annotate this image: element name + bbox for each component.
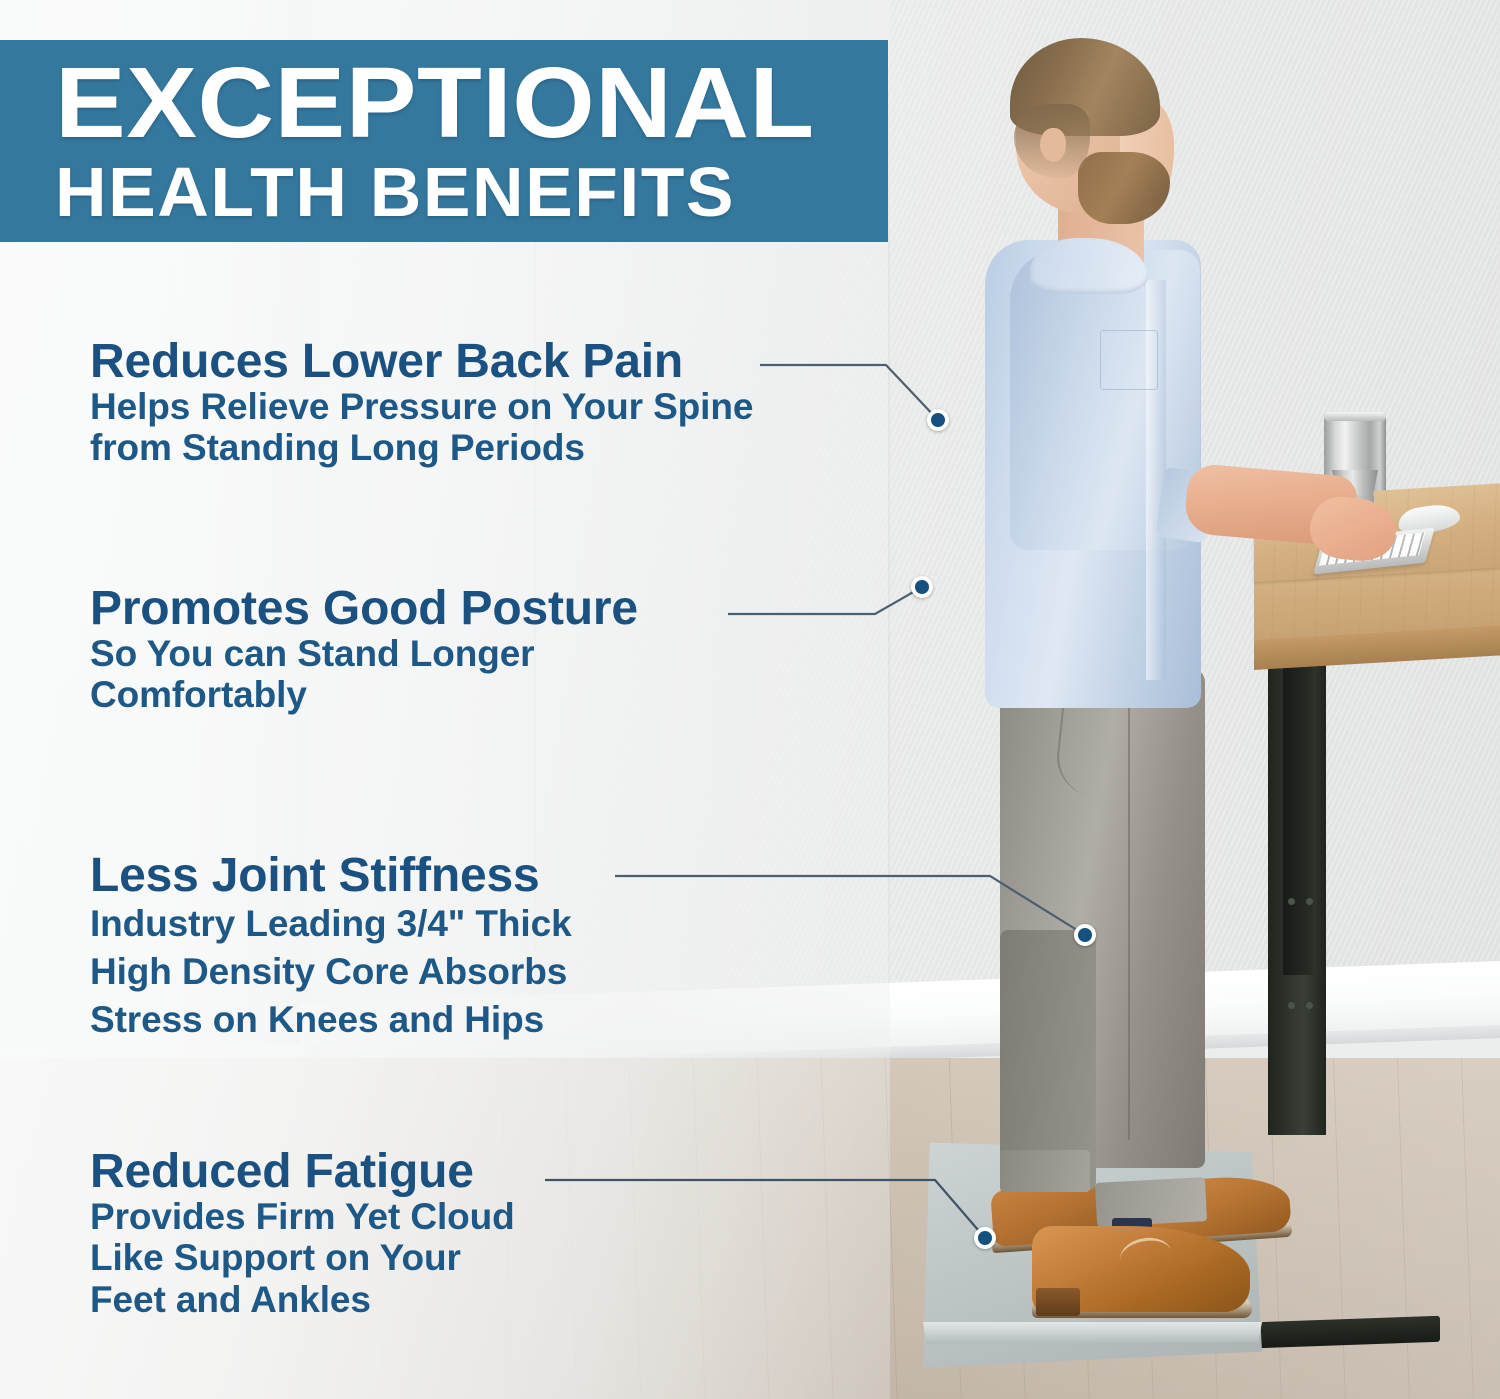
benefit-subtext-line: Industry Leading 3/4" Thick [90,900,572,948]
desk-leg-inner [1283,655,1313,975]
desk-bolt [1306,898,1313,905]
benefit-subtext-line: So You can Stand Longer [90,633,638,674]
pants-cuff-back [1000,1150,1090,1192]
infographic-canvas: EXCEPTIONAL HEALTH BENEFITS Reduces Lowe… [0,0,1500,1399]
benefit-subtext-line: from Standing Long Periods [90,427,753,468]
desk-bolt [1288,898,1295,905]
banner-title-line-1: EXCEPTIONAL [55,55,938,151]
benefit-subtext-line: Helps Relieve Pressure on Your Spine [90,386,753,427]
shirt-pocket [1100,330,1158,390]
banner-title-line-2: HEALTH BENEFITS [55,157,905,227]
benefit-subtext-line: Comfortably [90,674,638,715]
benefit-subtext-line: High Density Core Absorbs [90,948,572,996]
desk-bolt [1288,1002,1295,1009]
callout-dot-knee-joint[interactable] [1074,924,1096,946]
anti-fatigue-mat-edge [916,1322,1262,1344]
ear [1040,128,1066,162]
benefit-block-less-joint-stiffness: Less Joint Stiffness Industry Leading 3/… [90,852,572,1044]
callout-dot-upper-back-posture[interactable] [911,576,933,598]
benefit-subtext-line: Provides Firm Yet Cloud [90,1196,515,1237]
desk-bolt [1306,1002,1313,1009]
benefit-block-reduced-fatigue: Reduced Fatigue Provides Firm Yet Cloud … [90,1148,515,1320]
tumbler-rim [1324,412,1386,421]
shoe-heel [1036,1288,1080,1316]
callout-dot-lower-back[interactable] [927,409,949,431]
benefit-heading: Reduced Fatigue [90,1148,515,1196]
benefit-subtext-line: Stress on Knees and Hips [90,996,572,1044]
benefit-block-reduces-lower-back-pain: Reduces Lower Back Pain Helps Relieve Pr… [90,338,753,469]
header-banner: EXCEPTIONAL HEALTH BENEFITS [0,40,888,242]
benefit-block-promotes-good-posture: Promotes Good Posture So You can Stand L… [90,585,638,716]
benefit-subtext-line: Like Support on Your [90,1237,515,1278]
callout-dot-mat-underfoot[interactable] [974,1227,996,1249]
pants-seam [1128,700,1130,1140]
benefit-heading: Reduces Lower Back Pain [90,338,753,386]
benefit-heading: Less Joint Stiffness [90,852,572,900]
benefit-heading: Promotes Good Posture [90,585,638,633]
benefit-subtext-line: Feet and Ankles [90,1279,515,1320]
